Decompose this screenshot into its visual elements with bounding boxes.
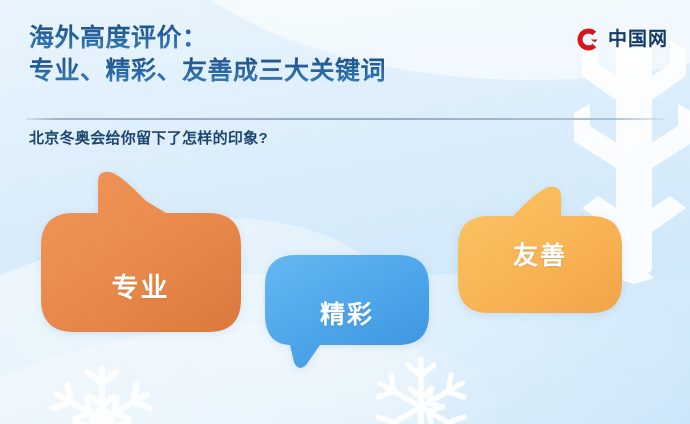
keyword-label-friendly: 友善 — [455, 236, 625, 272]
title-line-2: 专业、精彩、友善成三大关键词 — [29, 55, 386, 88]
keyword-label-wonderful: 精彩 — [262, 295, 432, 331]
title-line-1: 海外高度评价： — [29, 22, 386, 55]
keyword-label-professional: 专业 — [38, 266, 243, 305]
keyword-bubble-professional[interactable]: 专业 — [38, 168, 243, 336]
page-subtitle: 北京冬奥会给你留下了怎样的印象? — [29, 127, 268, 148]
china-net-c-mark-icon — [576, 27, 601, 52]
poster-canvas: 海外高度评价： 专业、精彩、友善成三大关键词 北京冬奥会给你留下了怎样的印象? … — [0, 0, 690, 424]
brand-logo[interactable]: 中国网 — [576, 27, 668, 52]
header-divider — [26, 118, 664, 120]
keyword-bubble-friendly[interactable]: 友善 — [455, 184, 625, 318]
page-title: 海外高度评价： 专业、精彩、友善成三大关键词 — [29, 22, 386, 88]
snowflake-bottom-left-icon — [42, 360, 162, 424]
keyword-bubble-wonderful[interactable]: 精彩 — [262, 252, 432, 370]
brand-logo-text: 中国网 — [608, 27, 668, 52]
